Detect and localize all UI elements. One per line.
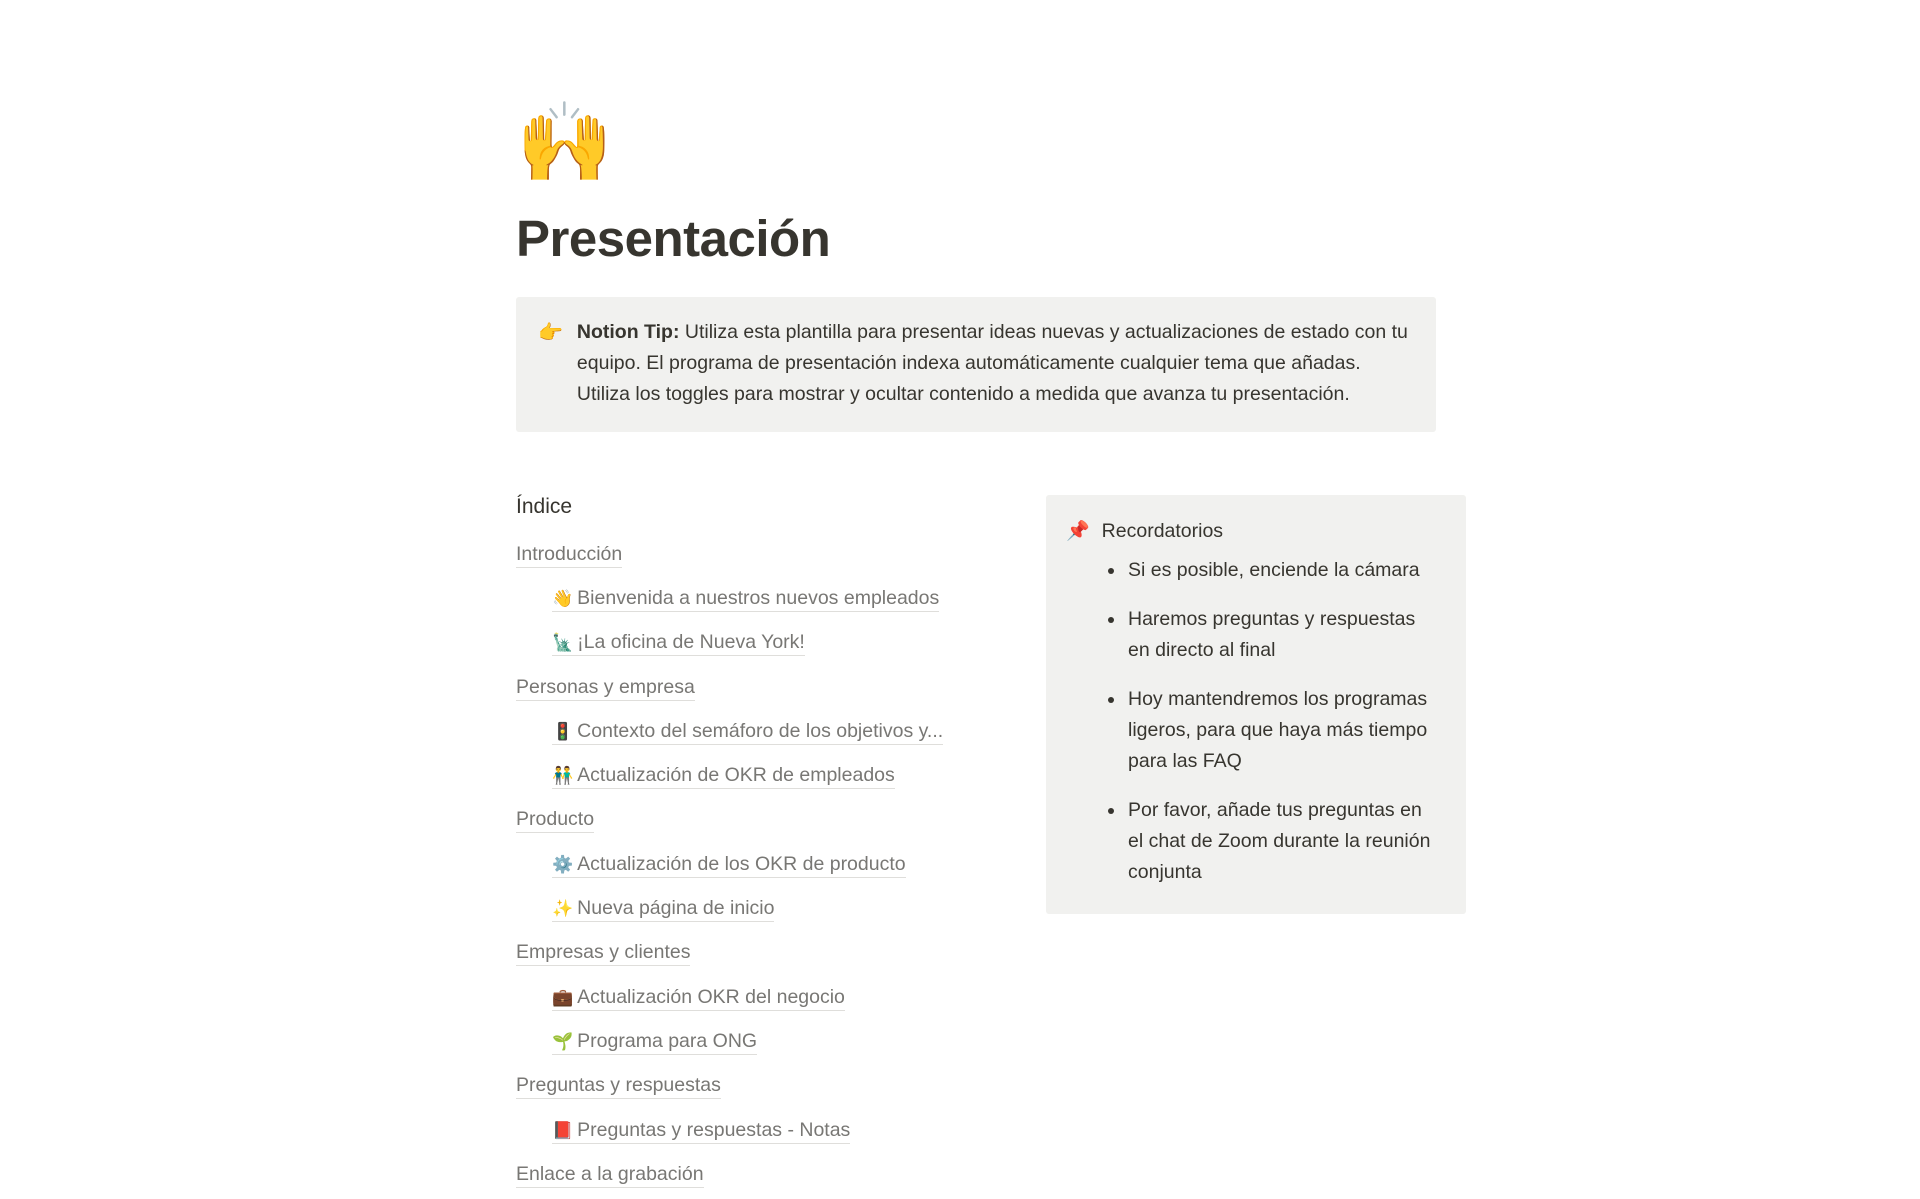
toc-item-label: Preguntas y respuestas xyxy=(516,1074,721,1096)
toc-item-emoji-icon: ⚙️ xyxy=(552,855,573,875)
toc-item: 📕Preguntas y respuestas - Notas xyxy=(516,1117,1016,1144)
toc-item-label: Empresas y clientes xyxy=(516,941,690,963)
toc-item-emoji-icon: 📕 xyxy=(552,1121,573,1141)
toc-link[interactable]: 💼Actualización OKR del negocio xyxy=(552,986,845,1011)
toc-link[interactable]: Producto xyxy=(516,808,594,833)
notion-tip-body: Utiliza esta plantilla para presentar id… xyxy=(577,321,1408,405)
toc-item: 🚦Contexto del semáforo de los objetivos … xyxy=(516,718,1016,745)
reminders-list: Si es posible, enciende la cámaraHaremos… xyxy=(1066,555,1442,888)
toc-item: 👋Bienvenida a nuestros nuevos empleados xyxy=(516,585,1016,612)
toc-link[interactable]: Introducción xyxy=(516,543,622,568)
toc-item: Introducción xyxy=(516,541,1016,568)
toc-link[interactable]: ⚙️Actualización de los OKR de producto xyxy=(552,853,906,878)
notion-page: 🙌 Presentación 👉 Notion Tip: Utiliza est… xyxy=(0,0,1920,1199)
toc-item-label: Actualización de OKR de empleados xyxy=(577,764,895,786)
page-content: 🙌 Presentación 👉 Notion Tip: Utiliza est… xyxy=(516,0,1436,1199)
toc-item-label: Nueva página de inicio xyxy=(577,897,774,919)
toc-item: 🌱Programa para ONG xyxy=(516,1028,1016,1055)
toc-list: Introducción👋Bienvenida a nuestros nuevo… xyxy=(516,541,1016,1188)
toc-item-emoji-icon: ✨ xyxy=(552,899,573,919)
toc-item: ✨Nueva página de inicio xyxy=(516,895,1016,922)
toc-item-emoji-icon: 👬 xyxy=(552,766,573,786)
toc-link[interactable]: Preguntas y respuestas xyxy=(516,1074,721,1099)
toc-heading: Índice xyxy=(516,495,1016,519)
toc-item: Producto xyxy=(516,806,1016,833)
toc-link[interactable]: Enlace a la grabación xyxy=(516,1163,704,1188)
toc-item-label: Bienvenida a nuestros nuevos empleados xyxy=(577,587,939,609)
toc-link[interactable]: 🚦Contexto del semáforo de los objetivos … xyxy=(552,720,943,745)
toc-item: Preguntas y respuestas xyxy=(516,1072,1016,1099)
toc-item-emoji-icon: 🗽 xyxy=(552,633,573,653)
toc-item: ⚙️Actualización de los OKR de producto xyxy=(516,851,1016,878)
page-title: Presentación xyxy=(516,210,1436,269)
toc-item-label: Preguntas y respuestas - Notas xyxy=(577,1119,850,1141)
reminder-item: Si es posible, enciende la cámara xyxy=(1128,555,1442,586)
toc-item-emoji-icon: 💼 xyxy=(552,988,573,1008)
toc-item: Enlace a la grabación xyxy=(516,1161,1016,1188)
toc-item: 👬Actualización de OKR de empleados xyxy=(516,762,1016,789)
reminder-item: Haremos preguntas y respuestas en direct… xyxy=(1128,604,1442,666)
toc-item-label: Actualización de los OKR de producto xyxy=(577,853,905,875)
toc-link[interactable]: 👋Bienvenida a nuestros nuevos empleados xyxy=(552,587,939,612)
reminders-column: 📌 Recordatorios Si es posible, enciende … xyxy=(1016,495,1436,914)
toc-link[interactable]: Personas y empresa xyxy=(516,676,695,701)
reminder-item: Hoy mantendremos los programas ligeros, … xyxy=(1128,684,1442,777)
toc-item: 💼Actualización OKR del negocio xyxy=(516,984,1016,1011)
toc-link[interactable]: Empresas y clientes xyxy=(516,941,690,966)
toc-item-label: Programa para ONG xyxy=(577,1030,757,1052)
two-column-layout: Índice Introducción👋Bienvenida a nuestro… xyxy=(516,495,1436,1199)
toc-item: Personas y empresa xyxy=(516,674,1016,701)
notion-tip-text: Notion Tip: Utiliza esta plantilla para … xyxy=(577,317,1414,410)
pointing-right-emoji: 👉 xyxy=(538,317,563,348)
toc-item-label: Personas y empresa xyxy=(516,676,695,698)
raising-hands-emoji[interactable]: 🙌 xyxy=(516,104,1436,200)
toc-item: Empresas y clientes xyxy=(516,939,1016,966)
toc-item-label: Contexto del semáforo de los objetivos y… xyxy=(577,720,943,742)
notion-tip-label: Notion Tip: xyxy=(577,321,680,343)
table-of-contents-column: Índice Introducción👋Bienvenida a nuestro… xyxy=(516,495,1016,1199)
toc-item: 🗽¡La oficina de Nueva York! xyxy=(516,629,1016,656)
toc-item-emoji-icon: 🚦 xyxy=(552,722,573,742)
toc-link[interactable]: ✨Nueva página de inicio xyxy=(552,897,774,922)
toc-item-label: Introducción xyxy=(516,543,622,565)
toc-link[interactable]: 🌱Programa para ONG xyxy=(552,1030,757,1055)
reminder-item: Por favor, añade tus preguntas en el cha… xyxy=(1128,795,1442,888)
toc-link[interactable]: 👬Actualización de OKR de empleados xyxy=(552,764,895,789)
toc-item-label: Enlace a la grabación xyxy=(516,1163,704,1185)
toc-item-emoji-icon: 👋 xyxy=(552,589,573,609)
toc-item-emoji-icon: 🌱 xyxy=(552,1032,573,1052)
reminders-callout: 📌 Recordatorios Si es posible, enciende … xyxy=(1046,495,1466,914)
notion-tip-callout: 👉 Notion Tip: Utiliza esta plantilla par… xyxy=(516,297,1436,432)
pushpin-emoji: 📌 xyxy=(1066,517,1090,545)
toc-item-label: Actualización OKR del negocio xyxy=(577,986,845,1008)
toc-item-label: ¡La oficina de Nueva York! xyxy=(577,631,805,653)
toc-link[interactable]: 🗽¡La oficina de Nueva York! xyxy=(552,631,805,656)
reminders-title: Recordatorios xyxy=(1102,517,1223,545)
reminders-header: 📌 Recordatorios xyxy=(1066,517,1442,545)
toc-item-label: Producto xyxy=(516,808,594,830)
toc-link[interactable]: 📕Preguntas y respuestas - Notas xyxy=(552,1119,850,1144)
